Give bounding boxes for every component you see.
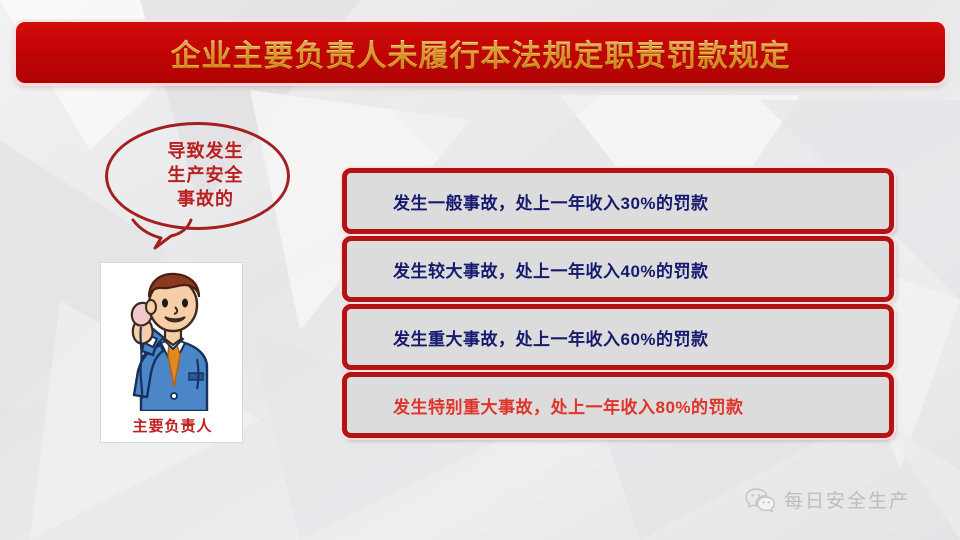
- page-title: 企业主要负责人未履行本法规定职责罚款规定: [171, 31, 791, 75]
- watermark-text: 每日安全生产: [784, 486, 910, 513]
- title-banner: 企业主要负责人未履行本法规定职责罚款规定: [16, 22, 945, 83]
- speech-bubble-line-3: 事故的: [177, 188, 234, 212]
- speech-bubble: 导致发生 生产安全 事故的: [105, 122, 290, 230]
- watermark: 每日安全生产: [745, 486, 910, 513]
- info-box-serious-accident: 发生重大事故，处上一年收入60%的罚款: [342, 304, 894, 370]
- wechat-icon: [745, 487, 775, 513]
- character-card: 主要负责人: [100, 262, 243, 443]
- info-box-major-accident: 发生较大事故，处上一年收入40%的罚款: [342, 236, 894, 302]
- info-box-text: 发生一般事故，处上一年收入30%的罚款: [347, 189, 709, 214]
- info-box-text: 发生重大事故，处上一年收入60%的罚款: [347, 325, 709, 350]
- speech-bubble-line-2: 生产安全: [168, 164, 244, 188]
- info-box-extraordinary-accident: 发生特别重大事故，处上一年收入80%的罚款: [342, 372, 894, 438]
- info-box-text: 发生较大事故，处上一年收入40%的罚款: [347, 257, 709, 282]
- speech-bubble-text: 导致发生 生产安全 事故的: [105, 122, 290, 230]
- character-label: 主要负责人: [101, 415, 243, 436]
- businessman-illustration-icon: [101, 263, 243, 411]
- slide-root: 企业主要负责人未履行本法规定职责罚款规定 导致发生 生产安全 事故的: [0, 0, 960, 540]
- info-box-text: 发生特别重大事故，处上一年收入80%的罚款: [347, 393, 744, 418]
- speech-bubble-line-1: 导致发生: [168, 140, 244, 164]
- info-box-general-accident: 发生一般事故，处上一年收入30%的罚款: [342, 168, 894, 234]
